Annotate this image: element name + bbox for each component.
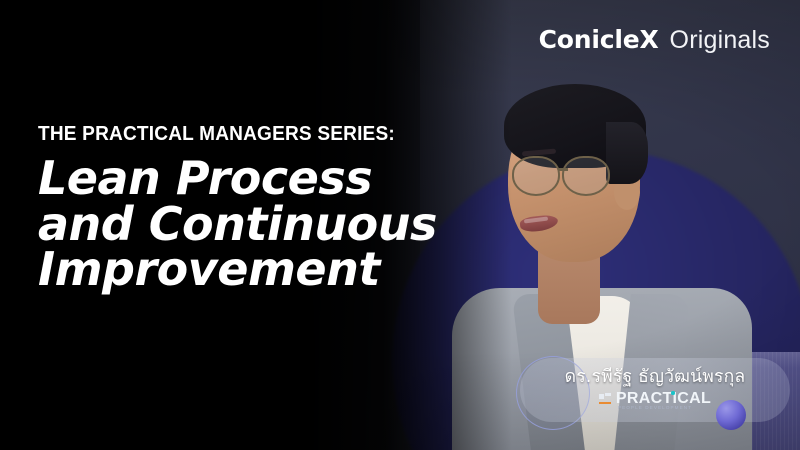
main-title-line-2: and Continuous	[38, 202, 478, 248]
practical-dot-icon	[671, 391, 675, 395]
glasses-lens-left-icon	[512, 156, 560, 196]
brand-lockup: ConicleX Originals	[539, 25, 770, 55]
glasses-lens-right-icon	[562, 156, 610, 196]
main-title-line-3: Improvement	[38, 247, 478, 293]
main-title: Lean Process and Continuous Improvement	[38, 156, 478, 293]
glasses-bridge-icon	[558, 168, 568, 171]
title-block: THE PRACTICAL MANAGERS SERIES: Lean Proc…	[38, 122, 478, 293]
brand-name: ConicleX	[539, 25, 659, 54]
series-eyebrow: THE PRACTICAL MANAGERS SERIES:	[38, 122, 447, 146]
video-thumbnail: ConicleX Originals THE PRACTICAL MANAGER…	[0, 0, 800, 450]
practical-tagline: PEOPLE DEVELOPMENT	[520, 405, 790, 410]
practical-mark-icon	[599, 393, 612, 406]
portrait-hair-side	[606, 122, 648, 184]
brand-series-label: Originals	[670, 26, 770, 55]
main-title-line-1: Lean Process	[38, 156, 478, 202]
speaker-name: ดร.รพีรัฐ ธัญวัฒน์พรกุล	[520, 362, 790, 390]
